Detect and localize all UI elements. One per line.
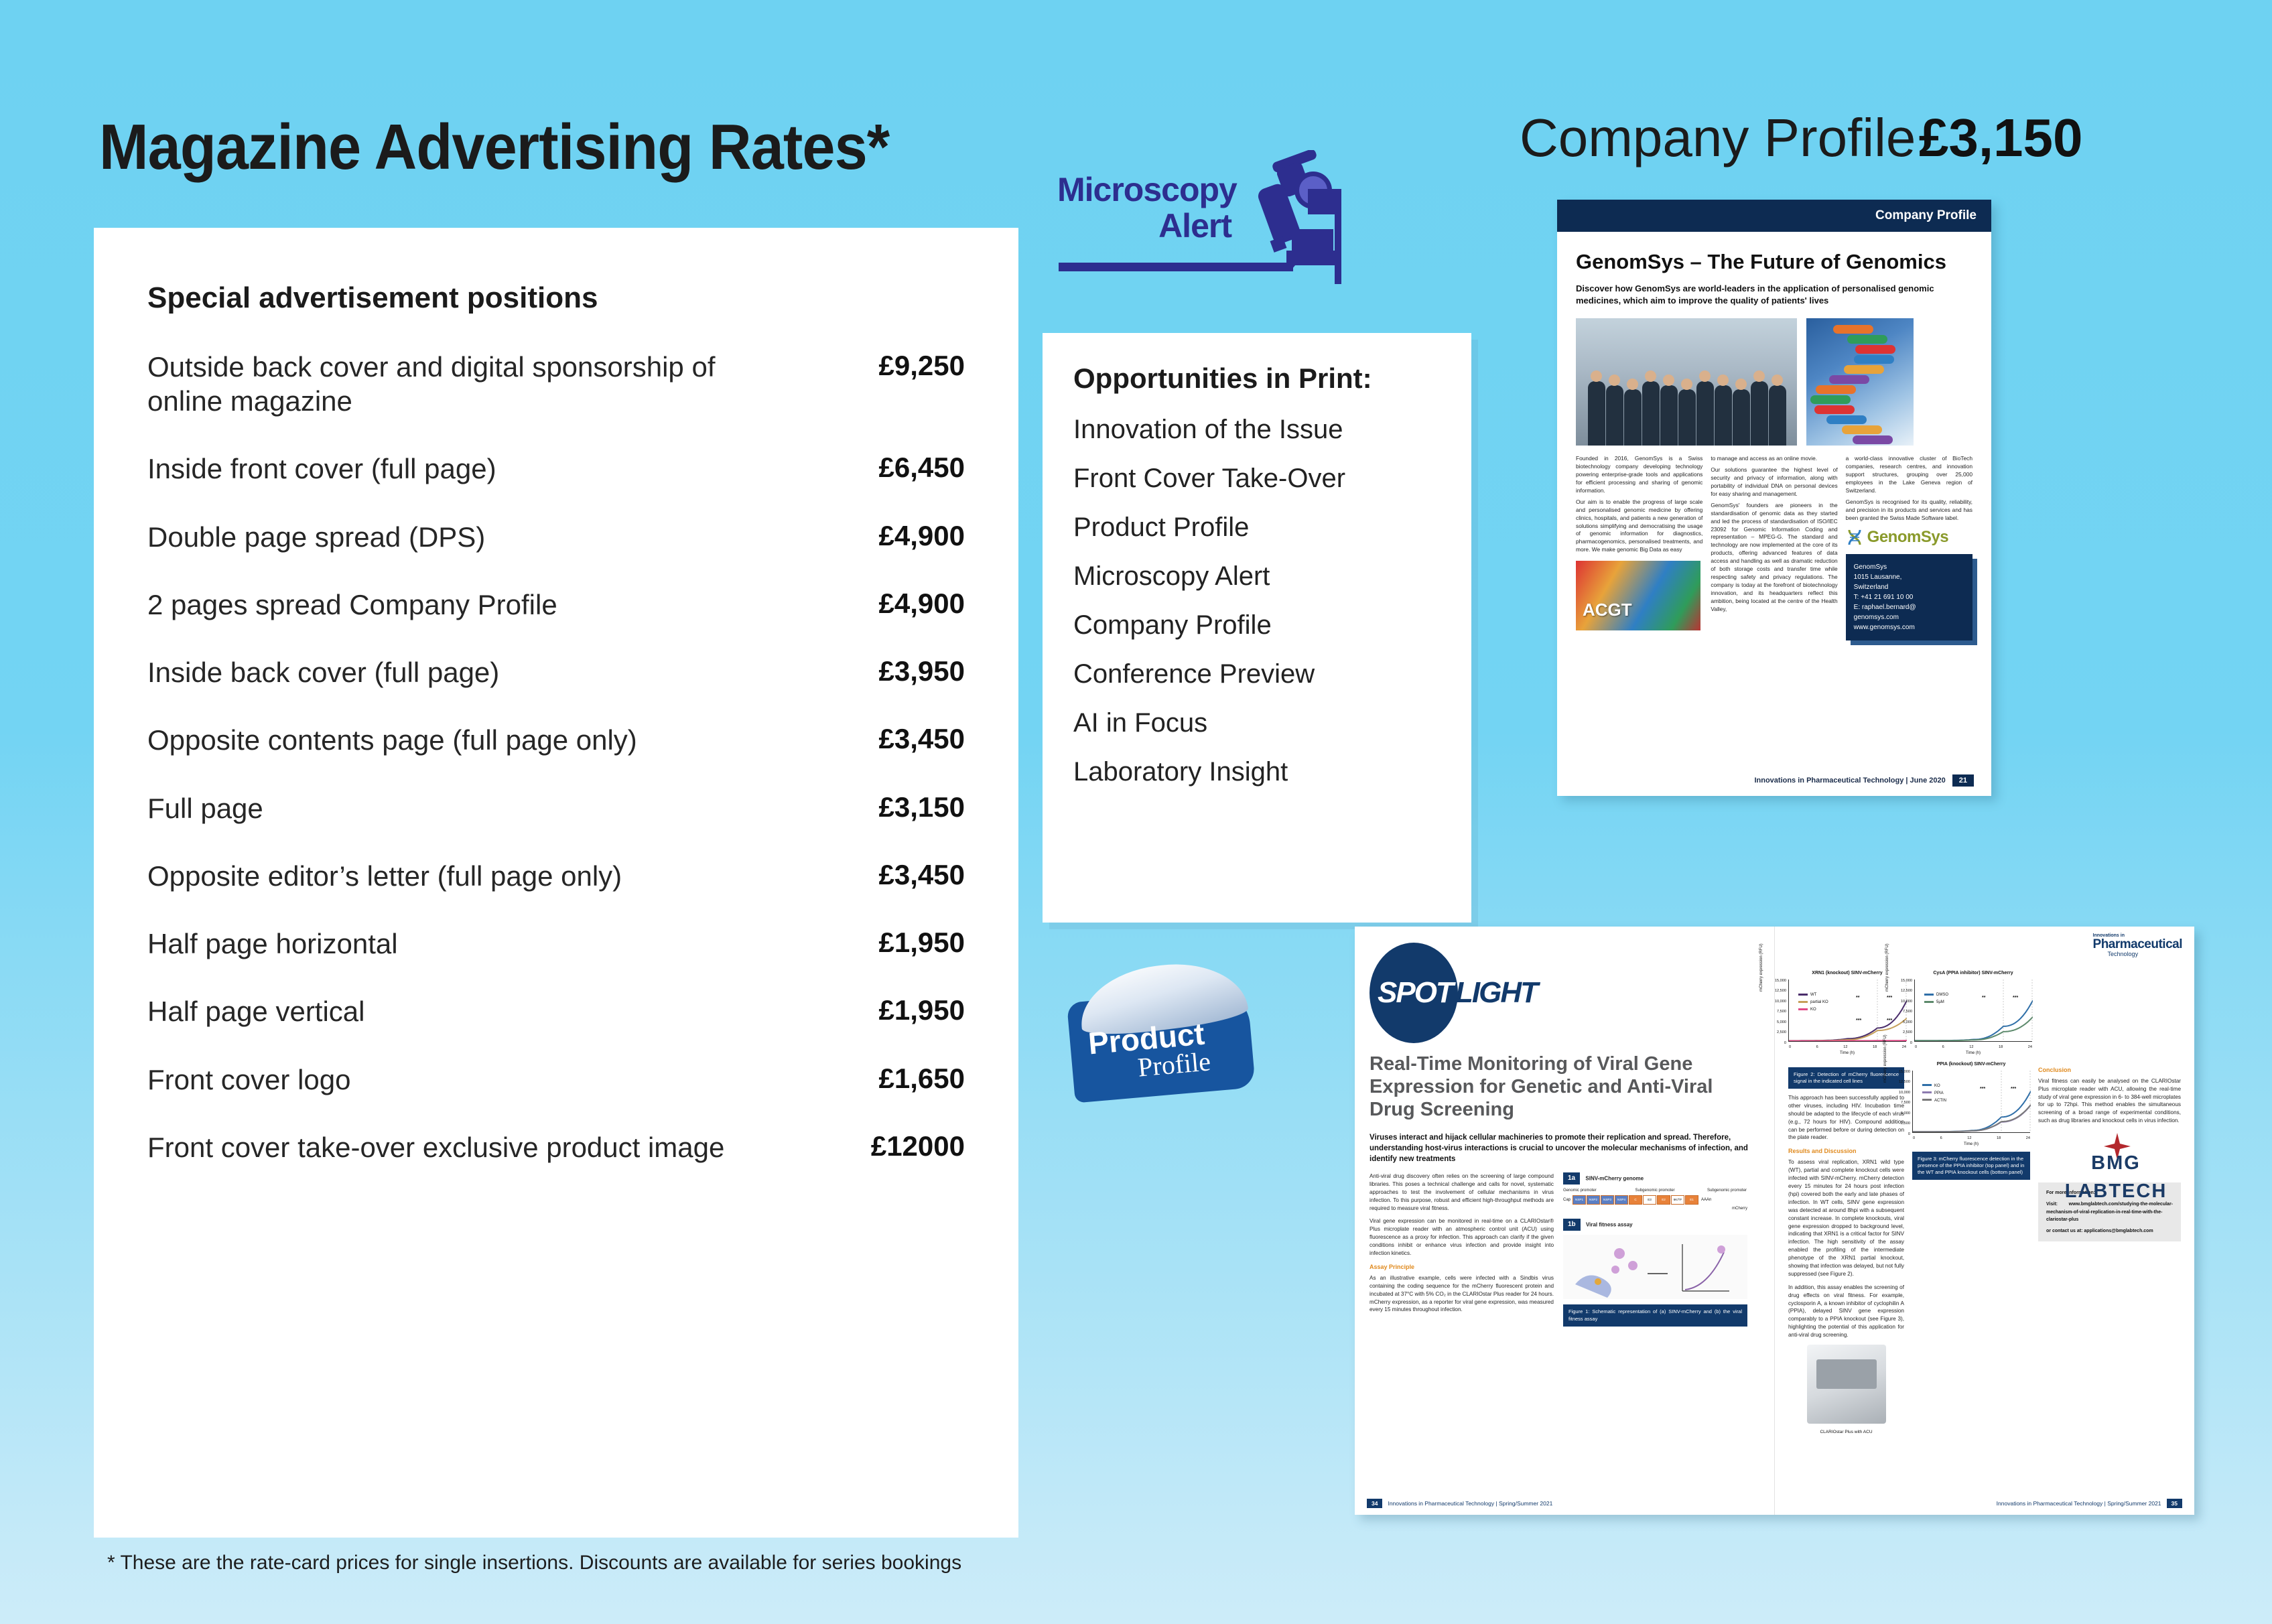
fig1-cap-label: Cap [1563, 1197, 1571, 1203]
chart-1-xticks: 06121824 [1915, 1045, 2032, 1049]
dna-segment [1853, 435, 1893, 444]
rate-row: Inside front cover (full page)£6,450 [147, 452, 965, 486]
genomsys-contact-line: Switzerland [1854, 582, 1964, 592]
genomsys-col1-text: Founded in 2016, GenomSys is a Swiss bio… [1576, 455, 1702, 554]
team-figure-head [1772, 375, 1783, 386]
dna-segment [1854, 355, 1894, 364]
team-figure [1715, 385, 1732, 446]
chart-1-legend: DMSO5µM [1924, 992, 1948, 1006]
spotlight-right-para-4: Viral fitness can easily be analysed on … [2038, 1077, 2181, 1125]
genomsys-paragraph: a world-class innovative cluster of BioT… [1846, 455, 1973, 495]
chart-0-yticks: 15,00012,50010,0007,5005,0002,5000 [1762, 976, 1786, 1049]
genomsys-footer-text: Innovations in Pharmaceutical Technology… [1754, 776, 1945, 785]
bmg-labtech-logo: BMG LABTECH [2038, 1134, 2194, 1177]
opportunities-list: Innovation of the IssueFront Cover Take-… [1073, 415, 1441, 787]
spotlight-left-footer-text: Innovations in Pharmaceutical Technology… [1388, 1500, 1552, 1507]
chart-significance-marker: *** [2013, 996, 2018, 1000]
spotlight-logo-spot: SPOT [1378, 976, 1453, 1010]
chart-ytick: 7,500 [1762, 1007, 1786, 1018]
genomsys-column-1: Founded in 2016, GenomSys is a Swiss bio… [1576, 455, 1702, 640]
genomsys-contact-line: T: +41 21 691 10 00 [1854, 592, 1964, 602]
chart-ytick: 15,000 [1886, 1067, 1910, 1078]
spotlight-right-footer: Innovations in Pharmaceutical Technology… [1997, 1499, 2182, 1508]
rate-row: Front cover take-over exclusive product … [147, 1130, 965, 1164]
masthead-sub: Technology [2108, 951, 2182, 957]
fig1-gene-box: E1 [1685, 1195, 1698, 1205]
spotlight-right-footer-text: Innovations in Pharmaceutical Technology… [1997, 1500, 2161, 1507]
genomsys-photo-row [1576, 318, 1973, 446]
genomsys-headline: GenomSys – The Future of Genomics [1576, 251, 1973, 273]
fig1-gene-box: E2 [1657, 1195, 1670, 1205]
chart-ytick: 2,500 [1886, 1119, 1910, 1130]
conclusion-heading: Conclusion [2038, 1066, 2181, 1075]
chart-legend-entry: PPIA [1922, 1090, 1946, 1097]
chart-ppia-knockout: PPIA (knockout) SINV-mCherry 15,00012,50… [1912, 1062, 2030, 1146]
genomsys-logo: GenomSys [1846, 526, 1973, 549]
genomsys-top-band: Company Profile [1557, 200, 1991, 232]
team-figure-head [1609, 375, 1620, 386]
pharmaceutical-technology-masthead: Innovations in Pharmaceutical Technology [2093, 933, 2182, 957]
dna-segment [1814, 405, 1855, 414]
fig1-gene-box: NSP4 [1615, 1195, 1628, 1205]
fig1b-tag: 1b [1563, 1219, 1581, 1231]
chart-0-legend: WTpartial KOKO [1798, 992, 1828, 1014]
opportunity-item[interactable]: Laboratory Insight [1073, 757, 1441, 787]
genomsys-contact-line: 1015 Lausanne, [1854, 572, 1964, 582]
chart-1-yticks: 15,00012,50010,0007,5005,0002,5000 [1888, 976, 1912, 1049]
fig1-genome-map: Cap NSP1NSP2NSP3NSP4CE3E26K/TFE1 AAAn [1563, 1195, 1747, 1205]
genomsys-paragraph: Our aim is to enable the progress of lar… [1576, 498, 1702, 554]
genomsys-wordmark: GenomSys [1867, 526, 1948, 549]
rate-row-label: Half page horizontal [147, 927, 398, 961]
rate-row-price: £1,950 [831, 994, 965, 1026]
company-profile-label: Company Profile [1520, 108, 1916, 167]
rate-row: Opposite contents page (full page only)£… [147, 723, 965, 757]
genomsys-contact-box: GenomSys1015 Lausanne,SwitzerlandT: +41 … [1846, 554, 1973, 640]
chart-legend-entry: DMSO [1924, 992, 1948, 999]
page-title: Magazine Advertising Rates* [99, 111, 962, 184]
product-profile-line2: Profile [1136, 1045, 1212, 1083]
rate-row-price: £1,950 [831, 927, 965, 959]
microscopy-alert-line2: Alert [1057, 209, 1231, 243]
spotlight-right-para-2: To assess viral replication, XRN1 wild t… [1788, 1158, 1904, 1278]
chart-ytick: 7,500 [1886, 1098, 1910, 1109]
fig1-promoter-labels: Genomic promoterSubgenomic promoterSubge… [1563, 1189, 1747, 1193]
spotlight-right-page: Innovations in Pharmaceutical Technology… [1774, 927, 2194, 1515]
fig1-promoter-label: Subgenomic promoter [1707, 1189, 1747, 1193]
chart-ytick: 12,500 [1886, 1077, 1910, 1088]
chart-ytick: 15,000 [1762, 976, 1786, 987]
chart-xtick: 18 [1873, 1045, 1877, 1049]
genomsys-dna-photo [1806, 318, 1914, 446]
chart-legend-entry: 5µM [1924, 999, 1948, 1006]
chart-1-title: CysA (PPIA inhibitor) SINV-mCherry [1914, 971, 2032, 977]
fig1b-illustration [1563, 1235, 1747, 1299]
chart-2-xlabel: Time (h) [1912, 1142, 2030, 1146]
spotlight-para-3: As an illustrative example, cells were i… [1369, 1274, 1554, 1314]
fig1a-tag: 1a [1563, 1172, 1580, 1185]
chart-ytick: 10,000 [1762, 997, 1786, 1008]
dna-segment [1844, 365, 1884, 374]
chart-xtick: 18 [1999, 1045, 2003, 1049]
dna-segment [1855, 345, 1895, 354]
genomsys-text-columns: Founded in 2016, GenomSys is a Swiss bio… [1576, 455, 1973, 640]
chart-xtick: 6 [1942, 1045, 1944, 1049]
genomsys-page-number: 21 [1952, 774, 1974, 787]
genomsys-col2-text: to manage and access as an online movie.… [1711, 455, 1837, 614]
chart-2-ylabel: mCherry expression (RFU) [1883, 1034, 1887, 1083]
genomsys-footer: Innovations in Pharmaceutical Technology… [1557, 774, 1991, 787]
fig1-gene-boxes: NSP1NSP2NSP3NSP4CE3E26K/TFE1 [1573, 1195, 1698, 1205]
genomsys-colour-photo: ACGT [1576, 561, 1700, 630]
spotlight-para-2: Viral gene expression can be monitored i… [1369, 1217, 1554, 1257]
rate-row-price: £6,450 [831, 452, 965, 484]
chart-ytick: 5,000 [1888, 1018, 1912, 1028]
chart-xtick: 6 [1816, 1045, 1818, 1049]
fig1-gene-box: NSP3 [1601, 1195, 1614, 1205]
chart-ytick: 10,000 [1886, 1088, 1910, 1099]
team-figure [1606, 385, 1623, 446]
spotlight-right-para-3: In addition, this assay enables the scre… [1788, 1284, 1904, 1339]
fig1-aaa-label: AAAn [1701, 1197, 1711, 1203]
chart-significance-marker: *** [2011, 1087, 2016, 1091]
fig1-gene-box: NSP2 [1587, 1195, 1600, 1205]
genomsys-paragraph: Our solutions guarantee the highest leve… [1711, 466, 1837, 498]
chart-xtick: 24 [2026, 1136, 2030, 1140]
team-figure-head [1627, 379, 1638, 390]
opportunity-item[interactable]: Microscopy Alert [1073, 561, 1441, 592]
rate-row-label: Front cover take-over exclusive product … [147, 1130, 724, 1164]
fig1a-label: SINV-mCherry genome [1585, 1175, 1644, 1181]
fig1-promoter-label: Genomic promoter [1563, 1189, 1603, 1193]
chart-ytick: 0 [1762, 1038, 1786, 1049]
rate-row-price: £3,950 [831, 655, 965, 687]
product-profile-badge: Product Profile [1064, 941, 1265, 1115]
chart-xtick: 12 [1967, 1136, 1971, 1140]
fig1-gene-box: C [1629, 1195, 1642, 1205]
dna-segment [1842, 425, 1882, 434]
genomsys-wordmark-a: Genom [1867, 528, 1921, 546]
rate-row-label: Opposite contents page (full page only) [147, 723, 637, 757]
opportunity-item[interactable]: Company Profile [1073, 610, 1441, 640]
dna-segment [1816, 385, 1856, 394]
genomsys-col3-text: a world-class innovative cluster of BioT… [1846, 455, 1973, 522]
rate-row-label: Double page spread (DPS) [147, 520, 485, 554]
dna-segment [1826, 415, 1867, 424]
chart-ytick: 12,500 [1888, 986, 1912, 997]
chart-0-ylabel: mCherry expression (RFU) [1759, 943, 1763, 992]
rate-row: Half page vertical£1,950 [147, 994, 965, 1028]
team-figure [1733, 389, 1750, 446]
spotlight-right-page-number: 35 [2167, 1499, 2182, 1508]
opportunities-title: Opportunities in Print: [1073, 362, 1441, 395]
chart-legend-entry: WT [1798, 992, 1828, 999]
rate-row-label: Full page [147, 791, 263, 825]
team-figure-head [1735, 379, 1747, 390]
rate-row: Inside back cover (full page)£3,950 [147, 655, 965, 689]
rate-row: Outside back cover and digital sponsorsh… [147, 350, 965, 418]
rate-row: Opposite editor’s letter (full page only… [147, 859, 965, 893]
spotlight-figure-1-column: 1a SINV-mCherry genome Genomic promoterS… [1563, 1172, 1747, 1332]
rate-row-price: £12000 [831, 1130, 965, 1162]
team-figure-head [1663, 375, 1674, 386]
chart-ytick: 15,000 [1888, 976, 1912, 987]
team-figure-head [1591, 370, 1602, 382]
chart-ytick: 7,500 [1888, 1007, 1912, 1018]
fig1-mcherry-label: mCherry [1563, 1206, 1747, 1212]
rate-table: Outside back cover and digital sponsorsh… [147, 350, 965, 1164]
rate-row-label: Inside front cover (full page) [147, 452, 496, 486]
dna-helix-icon [1846, 529, 1863, 546]
team-figure-head [1753, 370, 1765, 382]
spotlight-right-col-2: PPIA (knockout) SINV-mCherry 15,00012,50… [1912, 1062, 2030, 1436]
genomsys-contact-line: www.genomsys.com [1854, 622, 1964, 632]
genomsys-contact-line: GenomSys [1854, 562, 1964, 572]
chart-2-legend: KOPPIAACTIN [1922, 1083, 1946, 1105]
microscopy-alert-wordmark: Microscopy Alert [1057, 173, 1231, 243]
spotlight-left-page: SPOT LIGHT Real-Time Monitoring of Viral… [1355, 927, 1774, 1515]
spotlight-right-body: Figure 2: Detection of mCherry fluoresce… [1788, 1062, 2181, 1436]
genomsys-paragraph: Founded in 2016, GenomSys is a Swiss bio… [1576, 455, 1702, 495]
rate-row: Full page£3,150 [147, 791, 965, 825]
microscopy-alert-line1: Microscopy [1057, 173, 1231, 206]
chart-xtick: 6 [1940, 1136, 1942, 1140]
fig3-caption: Figure 3: mCherry fluorescence detection… [1912, 1152, 2030, 1180]
genomsys-page-mockup: Company Profile GenomSys – The Future of… [1557, 200, 1991, 796]
rate-row-label: Front cover logo [147, 1063, 350, 1097]
rate-row-label: Outside back cover and digital sponsorsh… [147, 350, 764, 418]
chart-legend-entry: partial KO [1798, 999, 1828, 1006]
spotlight-spread-mockup: SPOT LIGHT Real-Time Monitoring of Viral… [1355, 927, 2194, 1515]
team-figure-head [1681, 379, 1692, 390]
spotlight-standfirst: Viruses interact and hijack cellular mac… [1369, 1132, 1759, 1164]
spotlight-left-columns: Anti-viral drug discovery often relies o… [1369, 1172, 1759, 1332]
chart-significance-marker: ** [1856, 996, 1859, 1000]
microscopy-alert-logo: Microscopy Alert [1053, 155, 1335, 303]
rate-row-price: £4,900 [831, 588, 965, 620]
chart-ytick: 2,500 [1762, 1028, 1786, 1038]
fig1-gene-box: E3 [1643, 1195, 1656, 1205]
fig1-caption: Figure 1: Schematic representation of (a… [1563, 1304, 1747, 1326]
opportunities-panel: Opportunities in Print: Innovation of th… [1043, 333, 1471, 923]
bmg-info-line3: or contact us at: applications@bmglabtec… [2046, 1227, 2173, 1235]
fig1a-row: 1a SINV-mCherry genome [1563, 1172, 1747, 1185]
opportunity-item[interactable]: Innovation of the Issue [1073, 415, 1441, 445]
team-figure-head [1645, 370, 1656, 382]
rate-row: Double page spread (DPS)£4,900 [147, 520, 965, 554]
chart-xtick: 0 [1789, 1045, 1791, 1049]
chart-significance-marker: ** [1982, 996, 1985, 1000]
fig1b-row: 1b Viral fitness assay [1563, 1219, 1747, 1231]
chart-significance-marker: *** [1856, 1018, 1861, 1023]
opportunity-item[interactable]: Conference Preview [1073, 659, 1441, 689]
genomsys-paragraph: GenomSys is recognised for its quality, … [1846, 498, 1973, 523]
rate-row-price: £3,450 [831, 723, 965, 755]
spotlight-left-footer: 34 Innovations in Pharmaceutical Technol… [1367, 1499, 1552, 1508]
chart-ytick: 12,500 [1762, 986, 1786, 997]
clariostar-reader-caption: CLARIOstar Plus with ACU [1788, 1429, 1904, 1435]
chart-ytick: 0 [1886, 1130, 1910, 1140]
spotlight-logo: SPOT LIGHT [1369, 943, 1510, 1043]
chart-2-xticks: 06121824 [1913, 1136, 2030, 1140]
rate-row-price: £1,650 [831, 1063, 965, 1095]
team-figure [1624, 389, 1642, 446]
chart-ytick: 0 [1888, 1038, 1912, 1049]
rate-row-price: £4,900 [831, 520, 965, 552]
spotlight-right-col-3: Conclusion Viral fitness can easily be a… [2038, 1062, 2181, 1436]
genomsys-paragraph: GenomSys' founders are pioneers in the s… [1711, 502, 1837, 614]
chart-legend-entry: KO [1922, 1083, 1946, 1090]
dna-segment [1833, 325, 1873, 334]
chart-legend-entry: KO [1798, 1006, 1828, 1014]
chart-0-xlabel: Time (h) [1788, 1051, 1906, 1055]
chart-legend-entry: ACTIN [1922, 1097, 1946, 1105]
rate-row-label: Inside back cover (full page) [147, 655, 499, 689]
microscope-icon [1207, 150, 1341, 291]
results-heading: Results and Discussion [1788, 1147, 1904, 1156]
genomsys-team-photo [1576, 318, 1797, 446]
fig1b-label: Viral fitness assay [1586, 1221, 1633, 1227]
rate-row-price: £3,150 [831, 791, 965, 823]
rate-row-label: Opposite editor’s letter (full page only… [147, 859, 622, 893]
rate-card-panel: Special advertisement positions Outside … [94, 228, 1018, 1538]
rate-row-price: £3,450 [831, 859, 965, 891]
team-figure [1751, 381, 1768, 446]
chart-cysa-inhibitor: CysA (PPIA inhibitor) SINV-mCherry 15,00… [1914, 971, 2032, 1055]
company-profile-header: Company Profile £3,150 [1520, 107, 2083, 169]
chart-xtick: 18 [1997, 1136, 2001, 1140]
chart-1-ylabel: mCherry expression (RFU) [1885, 943, 1889, 992]
spotlight-charts-row-1: XRN1 (knockout) SINV-mCherry 15,00012,50… [1788, 971, 2181, 1055]
spotlight-headline: Real-Time Monitoring of Viral Gene Expre… [1369, 1053, 1759, 1122]
rate-footnote: * These are the rate-card prices for sin… [107, 1552, 961, 1574]
opportunity-item[interactable]: Product Profile [1073, 513, 1441, 543]
genomsys-photo-caption: ACGT [1583, 598, 1632, 622]
team-figure [1588, 381, 1605, 446]
team-figure [1642, 381, 1660, 446]
genomsys-paragraph: to manage and access as an online movie. [1711, 455, 1837, 463]
chart-1-xlabel: Time (h) [1914, 1051, 2032, 1055]
rate-row-price: £9,250 [831, 350, 965, 382]
chart-2-yticks: 15,00012,50010,0007,5005,0002,5000 [1886, 1067, 1910, 1140]
team-figure [1660, 385, 1678, 446]
bmg-wordmark: BMG LABTECH [2038, 1149, 2194, 1205]
chart-ytick: 5,000 [1886, 1109, 1910, 1120]
chart-xtick: 12 [1969, 1045, 1973, 1049]
team-figure [1696, 381, 1714, 446]
team-figure [1769, 385, 1786, 446]
chart-ytick: 10,000 [1888, 997, 1912, 1008]
spotlight-left-page-number: 34 [1367, 1499, 1382, 1508]
dna-segment [1829, 375, 1869, 384]
rate-row: Front cover logo£1,650 [147, 1063, 965, 1097]
chart-2-title: PPIA (knockout) SINV-mCherry [1912, 1062, 2030, 1068]
rate-row: 2 pages spread Company Profile£4,900 [147, 588, 965, 622]
genomsys-band-label: Company Profile [1875, 208, 1977, 223]
genomsys-contact-line: genomsys.com [1854, 612, 1964, 622]
rate-row-label: 2 pages spread Company Profile [147, 588, 557, 622]
genomsys-column-2: to manage and access as an online movie.… [1711, 455, 1837, 640]
chart-xtick: 24 [2028, 1045, 2032, 1049]
assay-principle-heading: Assay Principle [1369, 1263, 1554, 1272]
rate-row-label: Half page vertical [147, 994, 365, 1028]
opportunity-item[interactable]: AI in Focus [1073, 708, 1441, 738]
spotlight-logo-light: LIGHT [1455, 976, 1537, 1010]
chart-xtick: 12 [1843, 1045, 1847, 1049]
masthead-main: Pharmaceutical [2093, 938, 2182, 951]
chart-2-plot: 15,00012,50010,0007,5005,0002,5000 mCher… [1912, 1071, 2030, 1133]
clariostar-reader-image [1807, 1345, 1886, 1424]
genomsys-contact-line: E: raphael.bernard@ [1854, 602, 1964, 612]
chart-significance-marker: *** [1980, 1087, 1985, 1091]
genomsys-wordmark-b: Sys [1921, 528, 1948, 546]
chart-1-curves [1915, 979, 2033, 1041]
chart-ytick: 5,000 [1762, 1018, 1786, 1028]
genomsys-standfirst: Discover how GenomSys are world-leaders … [1576, 283, 1973, 306]
team-figure [1678, 389, 1696, 446]
chart-ytick: 2,500 [1888, 1028, 1912, 1038]
dna-segment [1810, 395, 1851, 404]
genomsys-column-3: a world-class innovative cluster of BioT… [1846, 455, 1973, 640]
fig1-gene-box: 6K/TF [1671, 1195, 1684, 1205]
spotlight-para-1: Anti-viral drug discovery often relies o… [1369, 1172, 1554, 1212]
rate-row: Half page horizontal£1,950 [147, 927, 965, 961]
chart-xtick: 0 [1915, 1045, 1917, 1049]
company-profile-price: £3,150 [1919, 108, 2083, 167]
special-positions-heading: Special advertisement positions [147, 281, 965, 315]
fig1-gene-box: NSP1 [1573, 1195, 1586, 1205]
team-figure-head [1699, 370, 1711, 382]
chart-xtick: 0 [1913, 1136, 1915, 1140]
fig1-promoter-label: Subgenomic promoter [1635, 1189, 1676, 1193]
dna-segment [1847, 335, 1887, 344]
spotlight-left-col-text: Anti-viral drug discovery often relies o… [1369, 1172, 1554, 1332]
team-figure-head [1717, 375, 1729, 386]
chart-1-plot: 15,00012,50010,0007,5005,0002,5000 mCher… [1914, 979, 2032, 1042]
opportunity-item[interactable]: Front Cover Take-Over [1073, 464, 1441, 494]
